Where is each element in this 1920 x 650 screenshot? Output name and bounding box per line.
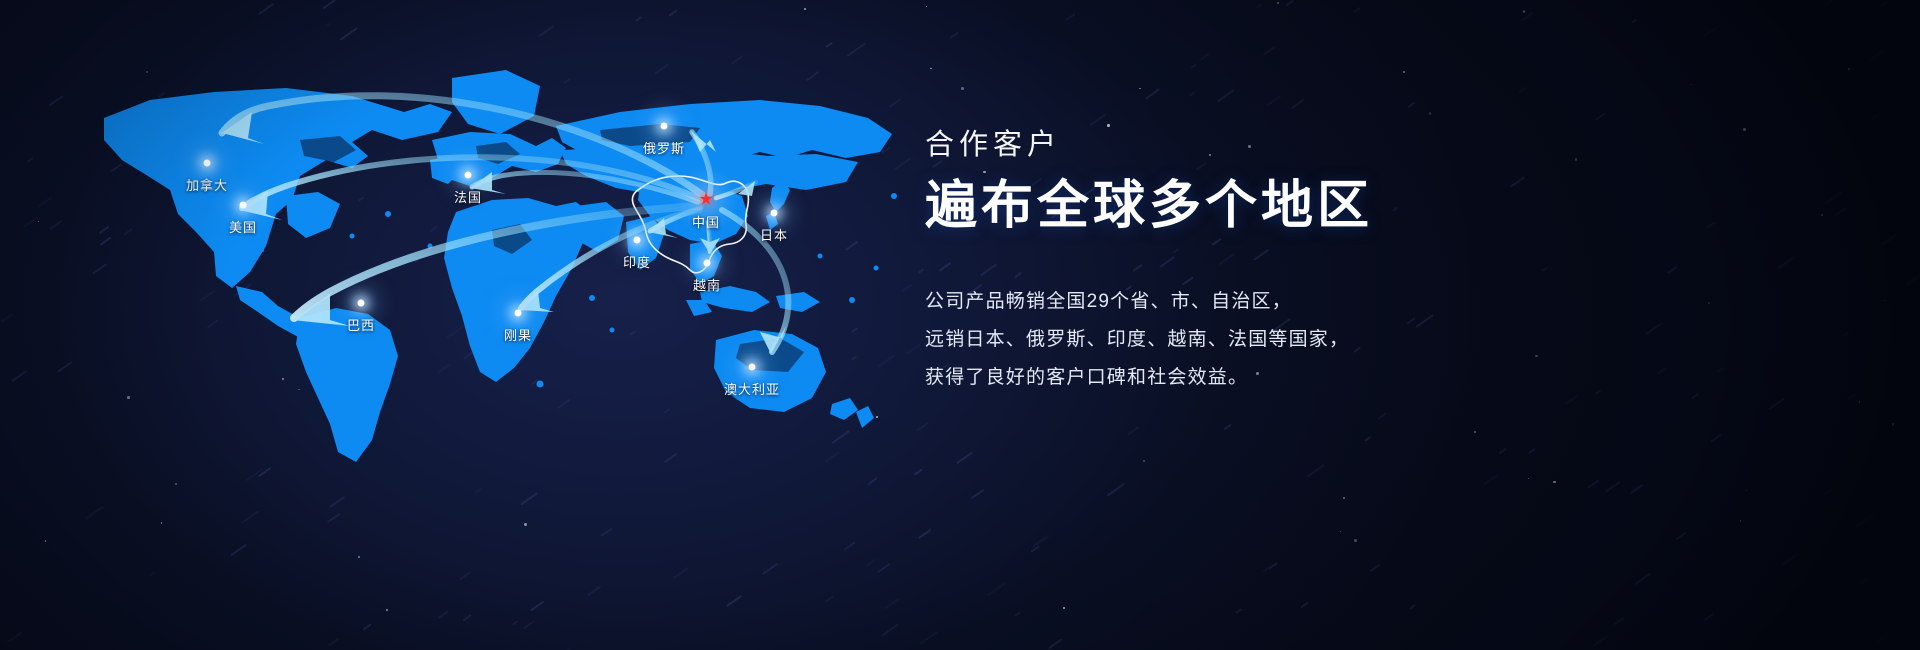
speckle: [1824, 192, 1841, 205]
star-speck: [1821, 214, 1823, 216]
star-speck: [961, 87, 964, 90]
banner-content: 合作客户 遍布全球多个地区 公司产品畅销全国29个省、市、自治区， 远销日本、俄…: [925, 128, 1685, 397]
star-speck: [1848, 68, 1850, 70]
speckle: [1377, 413, 1386, 420]
speckle: [971, 489, 984, 499]
star-speck: [1746, 490, 1747, 491]
speckle: [987, 582, 1005, 596]
speckle: [1605, 481, 1620, 492]
speckle: [1835, 208, 1847, 217]
speckle: [1370, 564, 1380, 572]
speckle: [1190, 63, 1197, 68]
star-speck: [1354, 539, 1357, 542]
star-speck: [1740, 520, 1741, 521]
star-speck: [1691, 84, 1692, 85]
speckle: [1768, 397, 1784, 409]
speckle: [1825, 0, 1835, 6]
speckle: [1257, 3, 1263, 8]
star-speck: [1708, 302, 1710, 304]
origin-glow: [672, 165, 740, 233]
banner-headline: 遍布全球多个地区: [925, 175, 1685, 237]
speckle: [1614, 617, 1625, 625]
star-speck: [1867, 186, 1868, 187]
speckle: [1065, 13, 1075, 21]
speckle: [1031, 546, 1040, 553]
speckle: [1285, 0, 1293, 6]
speckle: [1409, 604, 1415, 609]
speckle: [1868, 49, 1885, 61]
star-speck: [1523, 10, 1525, 12]
speckle: [1630, 484, 1643, 494]
speckle: [1236, 608, 1243, 613]
speckle: [1703, 613, 1714, 621]
speckle: [1521, 12, 1533, 21]
star-speck: [1063, 607, 1065, 609]
speckle: [1300, 602, 1308, 608]
speckle: [1676, 532, 1687, 540]
banner-paragraph: 公司产品畅销全国29个省、市、自治区， 远销日本、俄罗斯、印度、越南、法国等国家…: [925, 283, 1685, 397]
star-speck: [1139, 88, 1140, 89]
star-speck: [1859, 401, 1861, 403]
speckle: [1777, 257, 1794, 269]
star-speck: [1528, 478, 1529, 479]
speckle: [1717, 367, 1724, 372]
speckle: [1033, 535, 1050, 547]
banner-eyebrow: 合作客户: [925, 128, 1685, 163]
speckle: [1881, 234, 1896, 245]
speckle: [1089, 114, 1106, 126]
speckle: [1353, 7, 1360, 13]
speckle: [1692, 393, 1700, 399]
speckle: [1407, 102, 1415, 108]
world-map-svg: [0, 0, 960, 650]
speckle: [1518, 86, 1526, 92]
speckle: [1263, 46, 1275, 55]
speckle: [1880, 1, 1887, 7]
speckle: [1307, 464, 1325, 477]
speckle: [1781, 554, 1797, 566]
speckle: [1268, 563, 1277, 570]
paragraph-line-2: 远销日本、俄罗斯、印度、越南、法国等国家，: [925, 321, 1685, 359]
star-speck: [1277, 2, 1279, 4]
star-speck: [1340, 531, 1341, 532]
speckle: [1847, 393, 1857, 401]
star-speck: [1143, 460, 1145, 462]
star-speck: [1884, 300, 1885, 301]
speckle: [1706, 221, 1715, 228]
speckle: [1703, 26, 1718, 37]
speckle: [1529, 448, 1536, 454]
star-speck: [1343, 497, 1345, 499]
speckle: [1632, 19, 1638, 24]
paragraph-line-1: 公司产品畅销全国29个省、市、自治区，: [925, 283, 1685, 321]
paragraph-line-3: 获得了良好的客户口碑和社会效益。: [925, 359, 1685, 397]
star-speck: [1892, 423, 1894, 425]
speckle: [1190, 91, 1196, 96]
speckle: [1592, 635, 1608, 647]
speckle: [1127, 426, 1139, 435]
speckle: [1905, 272, 1920, 285]
speckle: [1856, 513, 1874, 526]
speckle: [1223, 423, 1231, 429]
speckle: [1587, 479, 1600, 489]
speckle: [1014, 611, 1021, 616]
star-speck: [1553, 481, 1556, 484]
world-map-banner: 加拿大美国巴西法国刚果印度俄罗斯★中国日本越南澳大利亚 合作客户 遍布全球多个地…: [0, 0, 1920, 650]
speckle: [1634, 572, 1650, 584]
star-speck: [1403, 71, 1405, 73]
speckle: [1199, 53, 1210, 61]
speckle: [1876, 637, 1885, 644]
speckle: [1842, 333, 1848, 338]
star-speck: [1107, 124, 1109, 126]
speckle: [1291, 99, 1304, 109]
star-speck: [1429, 112, 1431, 114]
speckle: [1483, 474, 1498, 485]
speckle: [1859, 578, 1868, 585]
speckle: [1825, 489, 1832, 495]
speckle: [1263, 566, 1272, 573]
speckle: [1145, 88, 1160, 99]
speckle: [1048, 639, 1062, 649]
speckle: [1266, 95, 1281, 106]
speckle: [1216, 89, 1234, 102]
speckle: [1711, 434, 1721, 442]
star-speck: [1474, 431, 1476, 433]
speckle: [1364, 436, 1371, 441]
star-speck: [1743, 128, 1746, 131]
speckle: [1595, 113, 1605, 121]
speckle: [1498, 448, 1506, 455]
world-map: 加拿大美国巴西法国刚果印度俄罗斯★中国日本越南澳大利亚: [0, 0, 960, 650]
speckle: [1872, 113, 1879, 119]
speckle: [1106, 483, 1124, 496]
